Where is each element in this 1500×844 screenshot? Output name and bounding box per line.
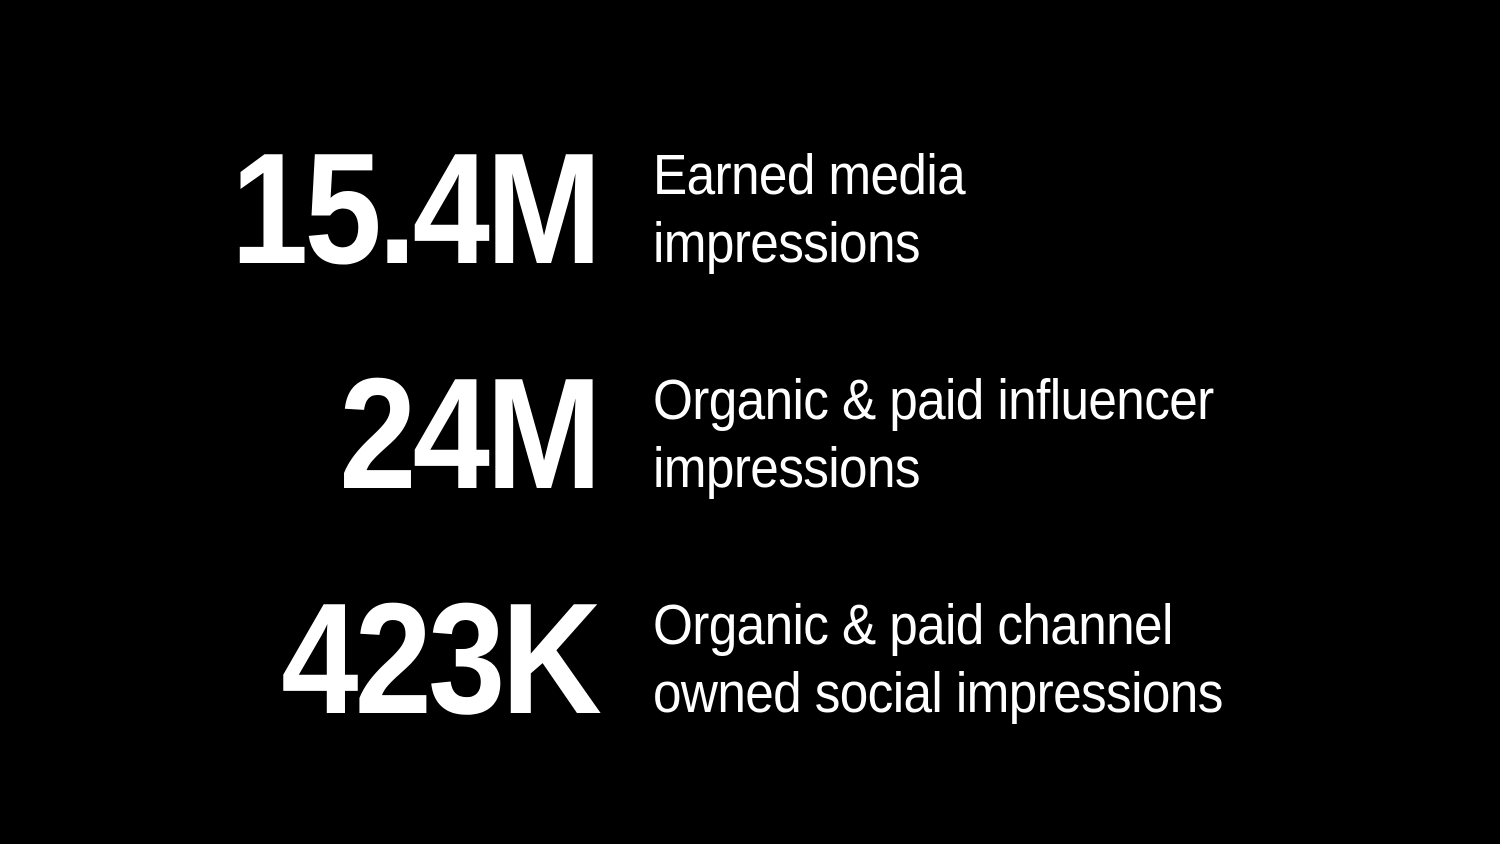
- stat-label-channel-owned: Organic & paid channel owned social impr…: [653, 591, 1415, 727]
- stat-value-influencer: 24M: [72, 355, 598, 513]
- stat-row: 423K Organic & paid channel owned social…: [0, 546, 1500, 771]
- stat-row: 24M Organic & paid influencer impression…: [0, 321, 1500, 546]
- stat-label-influencer: Organic & paid influencer impressions: [653, 366, 1415, 502]
- stat-label-earned-media: Earned media impressions: [653, 141, 1415, 277]
- stats-slide: 15.4M Earned media impressions 24M Organ…: [0, 0, 1500, 844]
- stat-value-channel-owned: 423K: [72, 580, 598, 738]
- stat-value-earned-media: 15.4M: [72, 130, 598, 288]
- stat-row: 15.4M Earned media impressions: [0, 96, 1500, 321]
- stats-list: 15.4M Earned media impressions 24M Organ…: [0, 96, 1500, 771]
